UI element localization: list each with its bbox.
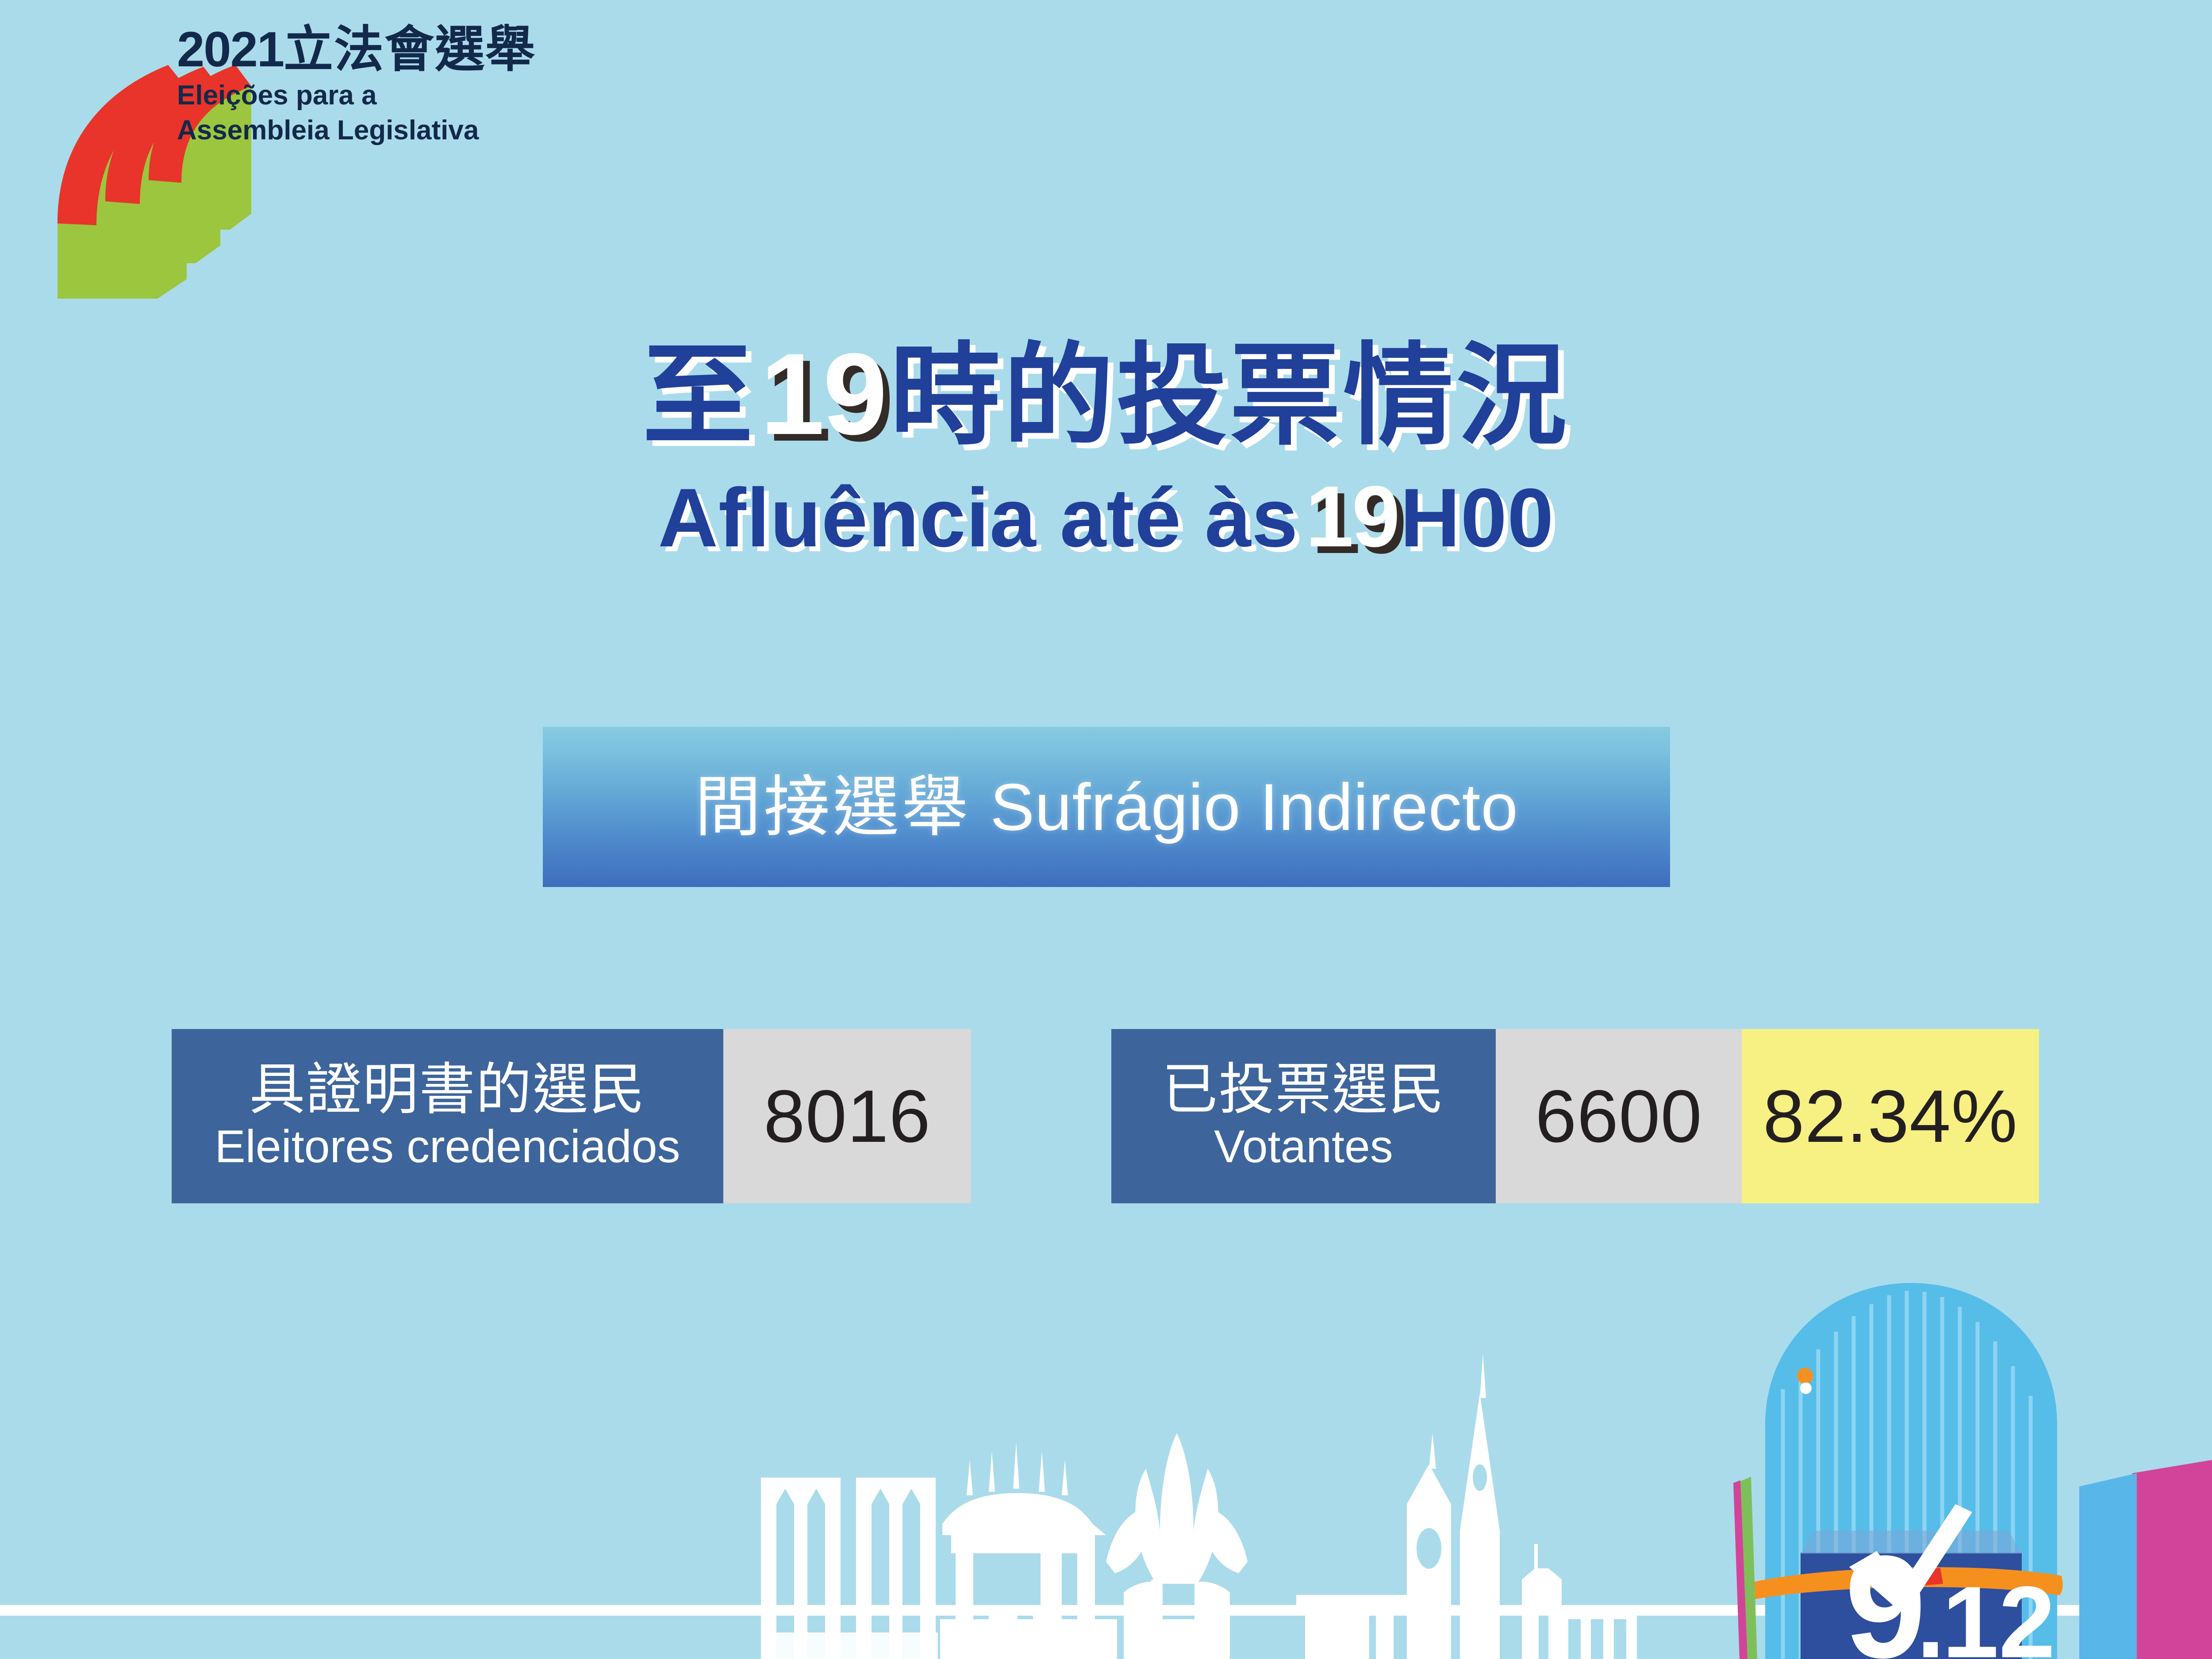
logo-wordmark: 2021立法會選舉 Eleições para a Assembleia Leg…	[177, 23, 469, 146]
stat-label-votantes: 已投票選民 Votantes	[1111, 1029, 1496, 1203]
macau-skyline-silhouette	[761, 1354, 1637, 1659]
suffrage-type-cn: 間接選舉	[695, 770, 971, 844]
stat-label-credenciados-pt: Eleitores credenciados	[215, 1121, 680, 1172]
stat-votantes: 已投票選民 Votantes 6600 82.34%	[1111, 1029, 2039, 1203]
page-title: 至19時的投票情況 Afluência até às19H00	[0, 336, 2212, 560]
stat-value-votantes: 6600	[1496, 1029, 1742, 1203]
election-logo: 2021立法會選舉 Eleições para a Assembleia Leg…	[31, 15, 473, 299]
title-line-pt: Afluência até às19H00	[0, 473, 2212, 560]
title-cn-suffix: 時的投票情況	[890, 334, 1570, 457]
logo-title-pt-line1: Eleições para a	[177, 80, 469, 111]
stat-eleitores-credenciados: 具證明書的選民 Eleitores credenciados 8016	[172, 1029, 971, 1203]
title-pt-suffix: H00	[1400, 471, 1554, 564]
title-line-cn: 至19時的投票情況	[0, 336, 2212, 452]
title-pt-hour: 19	[1306, 473, 1398, 560]
title-cn-prefix: 至	[642, 334, 756, 457]
poster-canvas: 2021立法會選舉 Eleições para a Assembleia Leg…	[0, 0, 2212, 1659]
date-badge-separator: .	[1916, 1565, 1945, 1659]
logo-title-cn: 2021立法會選舉	[177, 23, 469, 76]
stat-label-votantes-pt: Votantes	[1214, 1121, 1393, 1172]
stat-label-votantes-cn: 已投票選民	[1162, 1060, 1445, 1119]
title-pt-prefix: Afluência até às	[658, 471, 1298, 564]
suffrage-type-pt: Sufrágio Indirecto	[990, 770, 1518, 844]
horizon-line	[0, 1605, 2212, 1616]
stat-label-credenciados: 具證明書的選民 Eleitores credenciados	[172, 1029, 723, 1203]
suffrage-type-banner: 間接選舉Sufrágio Indirecto	[543, 727, 1670, 887]
stat-label-credenciados-cn: 具證明書的選民	[250, 1060, 646, 1119]
stat-value-credenciados: 8016	[723, 1029, 971, 1203]
title-cn-hour: 19	[760, 336, 885, 452]
stat-value-votantes-number: 6600	[1535, 1079, 1702, 1153]
bottom-artwork: 9 . 12	[0, 1194, 2212, 1659]
date-badge-month: 12	[1942, 1565, 2055, 1659]
stat-percent-votantes: 82.34%	[1742, 1029, 2039, 1203]
logo-year: 2021	[177, 22, 284, 77]
stat-percent-votantes-number: 82.34%	[1763, 1079, 2018, 1153]
date-badge-day: 9	[1845, 1525, 1926, 1659]
logo-title-cn-text: 立法會選舉	[284, 22, 536, 77]
logo-title-pt-line2: Assembleia Legislativa	[177, 115, 469, 146]
grand-lisboa-ballot-box: 9 . 12	[1733, 1283, 2212, 1659]
suffrage-type-text: 間接選舉Sufrágio Indirecto	[695, 774, 1518, 840]
stat-value-credenciados-number: 8016	[764, 1079, 931, 1153]
